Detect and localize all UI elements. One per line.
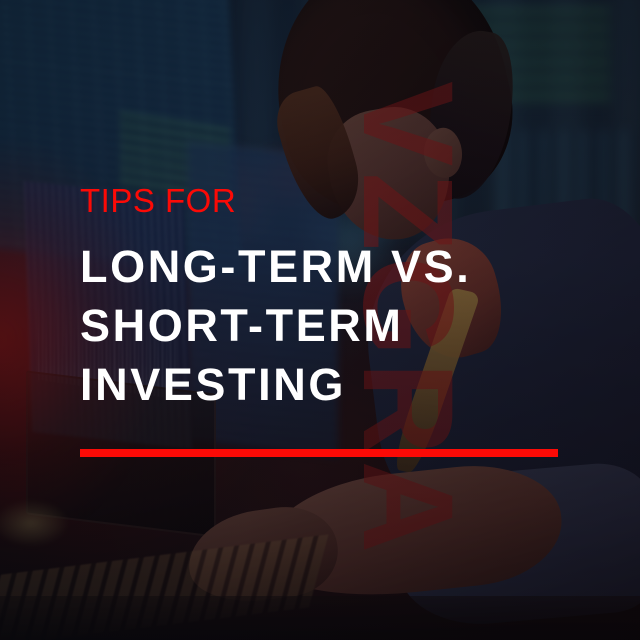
eyebrow-text: TIPS FOR [80, 184, 580, 219]
keyboard [0, 534, 329, 640]
poster-canvas: VZGRA TIPS FOR LONG-TERM VS. SHORT-TERM … [0, 0, 640, 640]
headline-line-1: LONG-TERM VS. [80, 237, 580, 296]
mouse-glow [0, 500, 68, 546]
headline-line-3: INVESTING [80, 355, 580, 414]
background-screen-green [460, 8, 610, 104]
figure-hand [182, 500, 343, 610]
headline-block: TIPS FOR LONG-TERM VS. SHORT-TERM INVEST… [80, 184, 580, 415]
page-title: LONG-TERM VS. SHORT-TERM INVESTING [80, 237, 580, 415]
headline-line-2: SHORT-TERM [80, 296, 580, 355]
desk-surface [0, 596, 640, 640]
accent-underline-rule [80, 449, 558, 457]
